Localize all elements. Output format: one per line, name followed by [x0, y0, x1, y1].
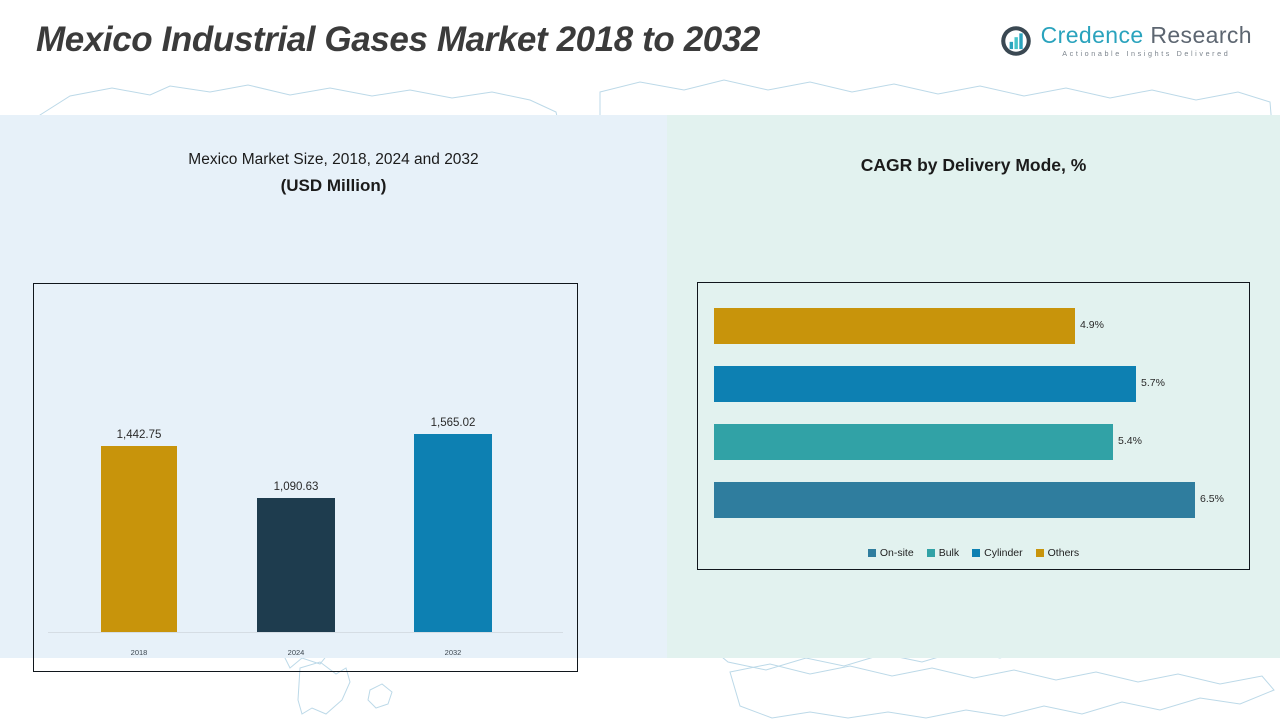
- logo-text: Credence Research Actionable Insights De…: [1041, 24, 1252, 57]
- page-title: Mexico Industrial Gases Market 2018 to 2…: [36, 20, 760, 60]
- chart-legend: On-siteBulkCylinderOthers: [698, 547, 1249, 559]
- column-bar: [414, 434, 492, 632]
- legend-item[interactable]: Others: [1036, 547, 1080, 559]
- legend-label: On-site: [880, 547, 914, 559]
- column-category-tick: 2018: [99, 648, 179, 657]
- right-panel-content: CAGR by Delivery Mode, % 4.9%5.7%5.4%6.5…: [667, 115, 1280, 658]
- brand-logo[interactable]: Credence Research Actionable Insights De…: [999, 24, 1252, 58]
- legend-swatch-icon: [1036, 549, 1044, 557]
- column-plot-area: 1,442.7520181,090.6320241,565.022032: [34, 284, 577, 671]
- column-value-label: 1,442.75: [84, 429, 194, 441]
- logo-wordmark: Credence Research: [1041, 24, 1252, 47]
- header: Mexico Industrial Gases Market 2018 to 2…: [0, 0, 1280, 115]
- horizontal-bar-value-label: 5.7%: [1141, 377, 1165, 389]
- legend-swatch-icon: [868, 549, 876, 557]
- column-bar: [101, 446, 177, 632]
- column-baseline-axis: [48, 632, 563, 633]
- bar-chart-circle-icon: [999, 24, 1033, 58]
- legend-item[interactable]: Bulk: [927, 547, 959, 559]
- right-chart-heading: CAGR by Delivery Mode, %: [667, 155, 1280, 176]
- horizontal-bar-value-label: 6.5%: [1200, 493, 1224, 505]
- legend-item[interactable]: Cylinder: [972, 547, 1023, 559]
- left-chart-subtitle: (USD Million): [0, 176, 667, 196]
- horizontal-bar: [714, 366, 1136, 402]
- horizontal-bar: [714, 482, 1195, 518]
- right-chart-title: CAGR by Delivery Mode, %: [667, 155, 1280, 176]
- legend-swatch-icon: [972, 549, 980, 557]
- logo-word-credence: Credence: [1041, 22, 1144, 48]
- cagr-by-delivery-mode-chart: 4.9%5.7%5.4%6.5% On-siteBulkCylinderOthe…: [697, 282, 1250, 570]
- logo-word-research: Research: [1150, 22, 1252, 48]
- column-value-label: 1,090.63: [241, 481, 351, 493]
- horizontal-bar: [714, 424, 1113, 460]
- column-category-tick: 2024: [256, 648, 336, 657]
- horizontal-bar-value-label: 4.9%: [1080, 319, 1104, 331]
- left-chart-title: Mexico Market Size, 2018, 2024 and 2032: [0, 151, 667, 169]
- column-value-label: 1,565.02: [398, 417, 508, 429]
- left-chart-heading: Mexico Market Size, 2018, 2024 and 2032 …: [0, 151, 667, 196]
- legend-label: Others: [1048, 547, 1080, 559]
- left-panel-content: Mexico Market Size, 2018, 2024 and 2032 …: [0, 115, 667, 658]
- legend-label: Bulk: [939, 547, 959, 559]
- market-size-column-chart: 1,442.7520181,090.6320241,565.022032: [33, 283, 578, 672]
- legend-label: Cylinder: [984, 547, 1023, 559]
- horizontal-bar-value-label: 5.4%: [1118, 435, 1142, 447]
- horizontal-bar: [714, 308, 1075, 344]
- horizontal-bar-plot-area: 4.9%5.7%5.4%6.5%: [698, 283, 1249, 569]
- legend-item[interactable]: On-site: [868, 547, 914, 559]
- column-bar: [257, 498, 335, 632]
- column-category-tick: 2032: [413, 648, 493, 657]
- legend-swatch-icon: [927, 549, 935, 557]
- logo-tagline: Actionable Insights Delivered: [1041, 50, 1252, 57]
